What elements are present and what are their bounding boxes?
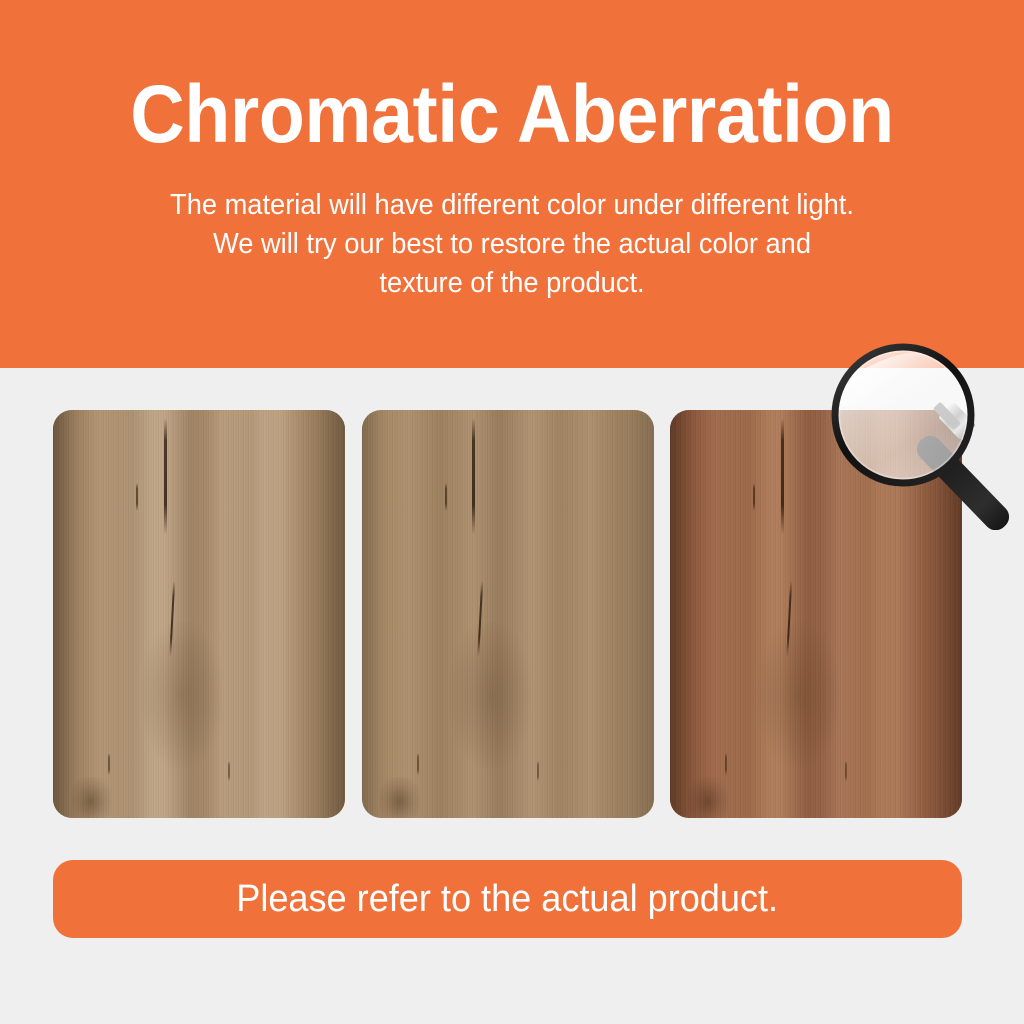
bottom-banner-text: Please refer to the actual product.	[237, 877, 779, 921]
page-title: Chromatic Aberration	[41, 72, 983, 158]
light-oak-swatch	[53, 410, 345, 818]
wood-edge-shading	[53, 410, 345, 818]
bottom-banner: Please refer to the actual product.	[53, 860, 962, 938]
subtitle-line-1: The material will have different color u…	[31, 186, 994, 225]
wood-edge-shading	[362, 410, 654, 818]
subtitle-line-2: We will try our best to restore the actu…	[31, 225, 994, 264]
dark-walnut-swatch	[362, 410, 654, 818]
header-band: Chromatic Aberration The material will h…	[0, 0, 1024, 368]
chromatic-aberration-infographic: Chromatic Aberration The material will h…	[0, 0, 1024, 1024]
subtitle-line-3: texture of the product.	[31, 264, 994, 303]
chestnut-swatch	[670, 410, 962, 818]
wood-swatch-row	[53, 410, 962, 818]
wood-edge-shading	[670, 410, 962, 818]
subtitle-block: The material will have different color u…	[31, 186, 994, 303]
